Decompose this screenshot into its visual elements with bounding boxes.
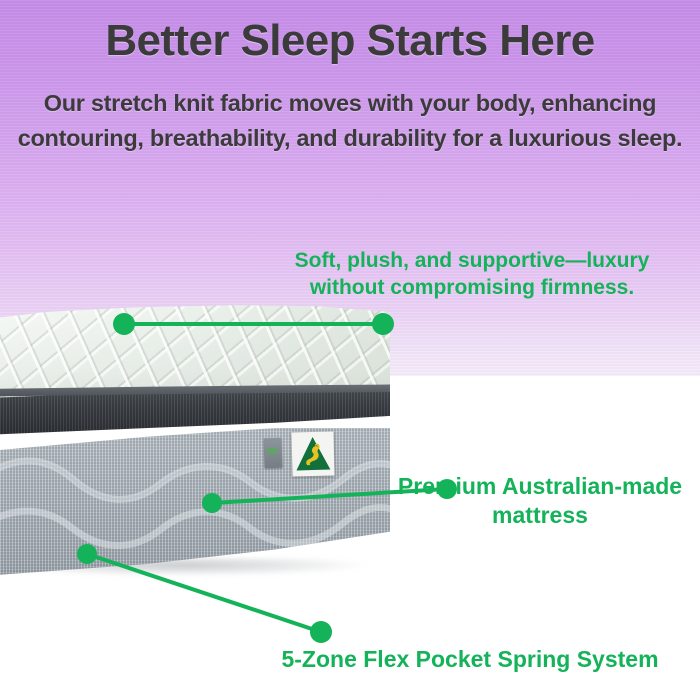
- tag-m-letter: m: [267, 444, 278, 456]
- callout-label-comfort: Soft, plush, and supportive—luxury witho…: [262, 248, 682, 302]
- callout-label-spring-system: 5-Zone Flex Pocket Spring System: [240, 645, 700, 674]
- australian-made-kangaroo-icon: [291, 431, 334, 476]
- page-subtitle: Our stretch knit fabric moves with your …: [8, 86, 692, 156]
- australian-made-tag: [291, 431, 334, 476]
- page-title: Better Sleep Starts Here: [0, 16, 700, 66]
- brand-tag-m: m: [263, 438, 282, 469]
- callout-label-australian-made: Premium Australian-made mattress: [380, 472, 700, 531]
- mattress-product-image: Ariel Bedding Luxury Australian Bedding …: [0, 300, 392, 575]
- mattress-infographic: Better Sleep Starts Here Our stretch kni…: [0, 0, 700, 700]
